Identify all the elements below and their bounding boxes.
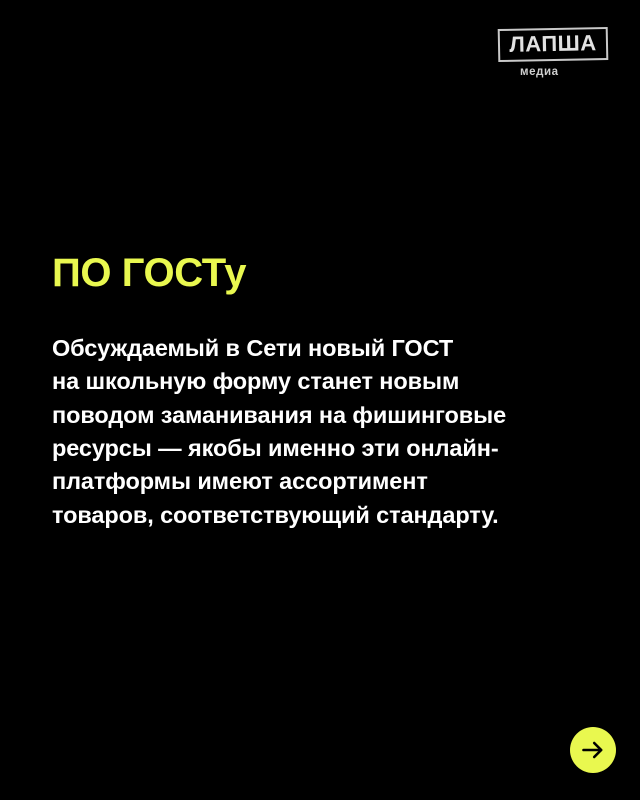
brand-subtitle: медиа [520, 67, 559, 79]
arrow-right-icon [580, 737, 606, 763]
page-title: ПО ГОСТу [52, 252, 600, 294]
body-line: Обсуждаемый в Сети новый ГОСТ [52, 332, 600, 365]
body-line: платформы имеют ассортимент [52, 465, 600, 498]
body-text: Обсуждаемый в Сети новый ГОСТ на школьну… [52, 332, 600, 532]
body-line: ресурсы — якобы именно эти онлайн- [52, 432, 600, 465]
brand-logo-box: ЛАПША [498, 27, 609, 62]
card-content: ПО ГОСТу Обсуждаемый в Сети новый ГОСТ н… [52, 252, 600, 532]
body-line: поводом заманивания на фишинговые [52, 399, 600, 432]
next-slide-button[interactable] [570, 727, 616, 773]
brand-logo: ЛАПША медиа [498, 28, 610, 79]
body-line: на школьную форму станет новым [52, 365, 600, 398]
body-line: товаров, соответствующий стандарту. [52, 499, 600, 532]
brand-name: ЛАПША [509, 32, 597, 56]
slide-card: ЛАПША медиа ПО ГОСТу Обсуждаемый в Сети … [0, 0, 640, 800]
